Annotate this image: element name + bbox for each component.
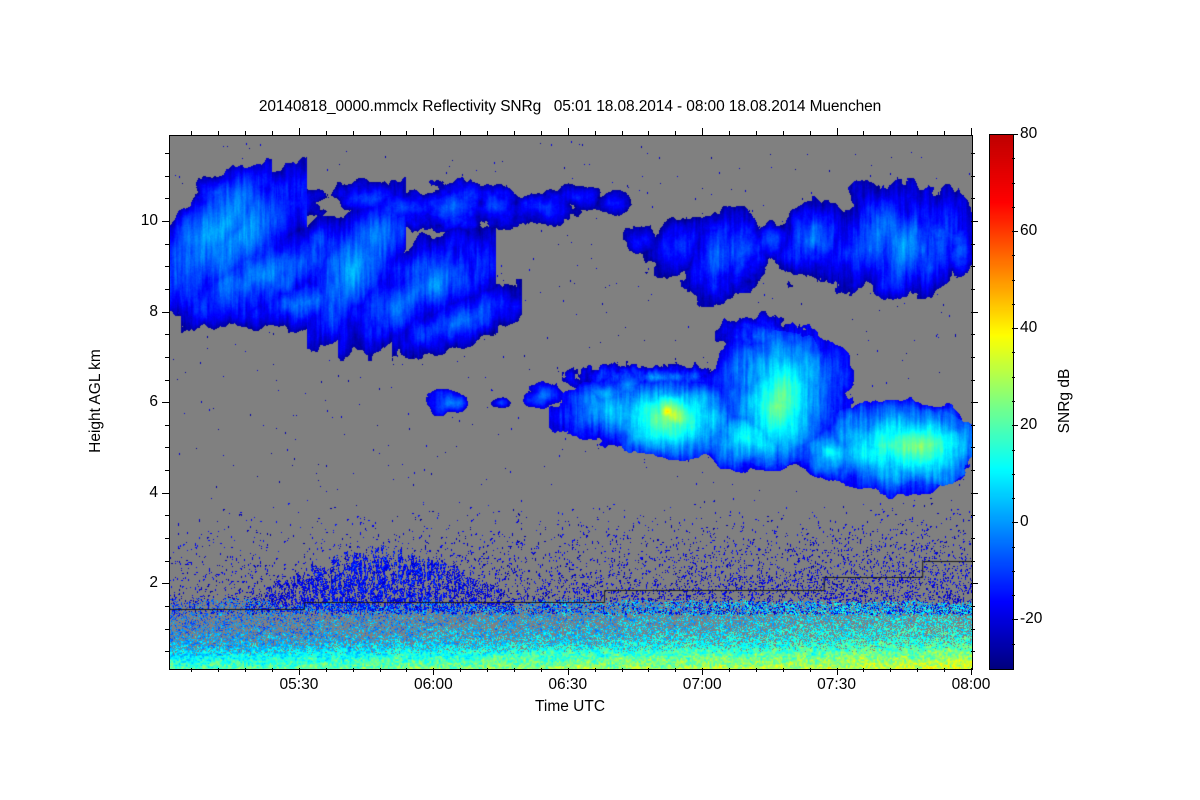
colorbar-tick-label: 60 — [1020, 222, 1037, 240]
y-tick — [162, 583, 169, 584]
page-title: 20140818_0000.mmclx Reflectivity SNRg 05… — [169, 98, 971, 116]
y-tick — [162, 312, 169, 313]
x-tick-label: 07:30 — [817, 676, 856, 694]
y-tick-label: 4 — [149, 484, 158, 502]
x-axis-title: Time UTC — [169, 698, 971, 716]
colorbar-tick-labels: -20020406080 — [1020, 134, 1060, 668]
x-tick — [299, 128, 300, 135]
x-tick-label: 06:30 — [548, 676, 587, 694]
x-tick-label: 05:30 — [280, 676, 319, 694]
y-axis-tick-labels: 246810 — [96, 135, 158, 668]
x-tick-label: 08:00 — [952, 676, 991, 694]
x-axis-tick-labels: 05:3006:0006:3007:0007:3008:00 — [169, 676, 971, 698]
y-axis-title: Height AGL km — [87, 349, 105, 453]
y-tick-label: 8 — [149, 303, 158, 321]
colorbar — [989, 134, 1014, 670]
x-tick — [837, 128, 838, 135]
y-tick-label: 2 — [149, 574, 158, 592]
radar-figure: 20140818_0000.mmclx Reflectivity SNRg 05… — [0, 0, 1200, 800]
plot-area — [169, 135, 973, 670]
y-tick — [162, 402, 169, 403]
colorbar-gradient — [990, 135, 1013, 669]
reflectivity-heatmap — [170, 136, 972, 669]
x-tick — [433, 128, 434, 135]
colorbar-tick-label: 80 — [1020, 125, 1037, 143]
x-tick — [568, 128, 569, 135]
y-tick — [162, 493, 169, 494]
x-tick — [702, 128, 703, 135]
x-tick-label: 06:00 — [414, 676, 453, 694]
colorbar-tick-label: 20 — [1020, 416, 1037, 434]
colorbar-tick-label: -20 — [1020, 610, 1042, 628]
colorbar-tick-label: 0 — [1020, 513, 1029, 531]
colorbar-title: SNRg dB — [1056, 369, 1074, 434]
x-tick-label: 07:00 — [683, 676, 722, 694]
colorbar-tick-label: 40 — [1020, 319, 1037, 337]
x-tick — [971, 128, 972, 135]
y-tick — [162, 221, 169, 222]
y-tick-label: 6 — [149, 393, 158, 411]
y-tick-label: 10 — [141, 212, 158, 230]
